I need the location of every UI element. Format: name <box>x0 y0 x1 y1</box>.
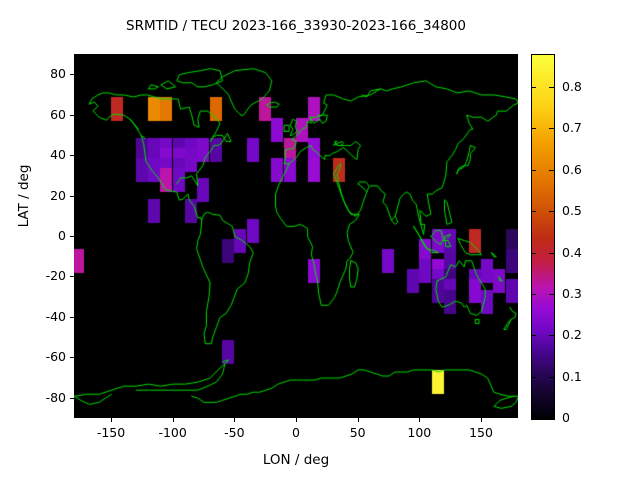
y-tick-label: -80 <box>6 390 66 405</box>
colorbar-tick-mark <box>549 294 554 295</box>
chart-figure: SRMTID / TECU 2023-166_33930-2023-166_34… <box>0 0 640 480</box>
map-plot-area <box>74 54 518 418</box>
colorbar-tick-mark <box>531 377 536 378</box>
colorbar-tick-mark <box>549 87 554 88</box>
colorbar-tick-mark <box>531 418 536 419</box>
y-tick-label: 20 <box>6 188 66 203</box>
x-tick-mark <box>419 418 420 422</box>
x-tick-label: -50 <box>204 425 264 440</box>
colorbar-gradient <box>532 55 554 419</box>
y-tick-label: 0 <box>6 228 66 243</box>
colorbar-tick-label: 0.4 <box>562 245 582 260</box>
colorbar-tick-label: 0 <box>562 410 570 425</box>
colorbar-tick-mark <box>549 418 554 419</box>
y-tick-label: 60 <box>6 107 66 122</box>
colorbar-tick-mark <box>549 211 554 212</box>
colorbar-tick-label: 0.3 <box>562 286 582 301</box>
colorbar-tick-mark <box>549 128 554 129</box>
colorbar-tick-mark <box>531 335 536 336</box>
x-tick-mark <box>481 418 482 422</box>
x-tick-mark <box>358 418 359 422</box>
colorbar-tick-label: 0.2 <box>562 327 582 342</box>
x-tick-mark <box>173 418 174 422</box>
colorbar-tick-mark <box>531 87 536 88</box>
x-tick-mark <box>111 418 112 422</box>
y-axis-label: LAT / deg <box>16 136 32 256</box>
x-tick-label: -150 <box>81 425 141 440</box>
y-tick-label: -20 <box>6 268 66 283</box>
x-tick-label: 0 <box>266 425 326 440</box>
y-tick-label: 80 <box>6 66 66 81</box>
colorbar <box>531 54 555 420</box>
colorbar-tick-label: 0.8 <box>562 79 582 94</box>
y-tick-label: 40 <box>6 147 66 162</box>
colorbar-tick-mark <box>531 128 536 129</box>
colorbar-tick-mark <box>531 170 536 171</box>
colorbar-tick-mark <box>549 170 554 171</box>
colorbar-tick-label: 0.6 <box>562 162 582 177</box>
x-tick-mark <box>296 418 297 422</box>
y-tick-label: -40 <box>6 309 66 324</box>
page-title: SRMTID / TECU 2023-166_33930-2023-166_34… <box>0 18 592 34</box>
x-tick-label: -100 <box>143 425 203 440</box>
coastline-layer <box>74 54 518 418</box>
x-tick-label: 100 <box>389 425 449 440</box>
colorbar-tick-mark <box>549 377 554 378</box>
x-tick-label: 150 <box>451 425 511 440</box>
colorbar-tick-label: 0.1 <box>562 369 582 384</box>
x-tick-mark <box>234 418 235 422</box>
colorbar-tick-mark <box>549 335 554 336</box>
x-tick-label: 50 <box>328 425 388 440</box>
colorbar-tick-mark <box>531 294 536 295</box>
colorbar-tick-mark <box>531 211 536 212</box>
colorbar-tick-mark <box>549 253 554 254</box>
colorbar-tick-mark <box>531 253 536 254</box>
y-tick-label: -60 <box>6 349 66 364</box>
x-axis-label: LON / deg <box>74 452 518 468</box>
colorbar-tick-label: 0.5 <box>562 203 582 218</box>
colorbar-tick-label: 0.7 <box>562 120 582 135</box>
